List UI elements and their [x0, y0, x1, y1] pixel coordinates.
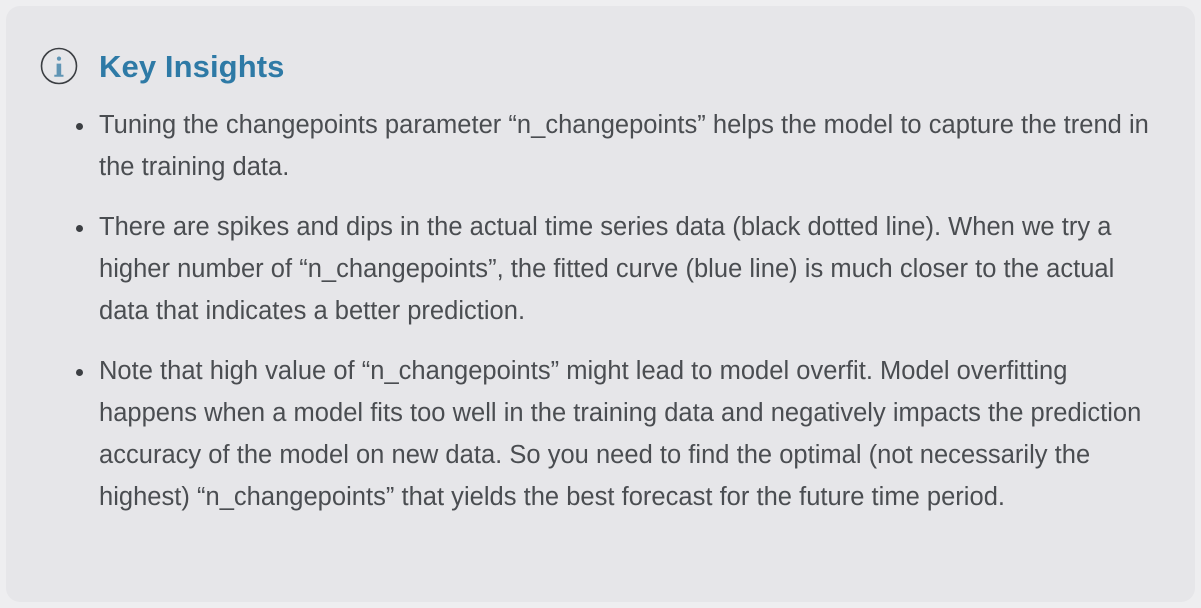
page-title: Key Insights: [99, 51, 285, 82]
bullet-dot-icon: [76, 123, 83, 130]
insight-text: Note that high value of “n_changepoints”…: [99, 350, 1155, 518]
key-insights-card: Key Insights Tuning the changepoints par…: [6, 6, 1195, 602]
list-item: Tuning the changepoints parameter “n_cha…: [6, 104, 1195, 188]
insight-text: Tuning the changepoints parameter “n_cha…: [99, 104, 1155, 188]
insight-text: There are spikes and dips in the actual …: [99, 206, 1155, 332]
callout-header: Key Insights: [6, 6, 1195, 86]
list-item: There are spikes and dips in the actual …: [6, 206, 1195, 332]
info-circle-icon: [39, 46, 79, 86]
bullet-dot-icon: [76, 369, 83, 376]
list-item: Note that high value of “n_changepoints”…: [6, 350, 1195, 518]
insights-list: Tuning the changepoints parameter “n_cha…: [6, 86, 1195, 518]
bullet-dot-icon: [76, 225, 83, 232]
